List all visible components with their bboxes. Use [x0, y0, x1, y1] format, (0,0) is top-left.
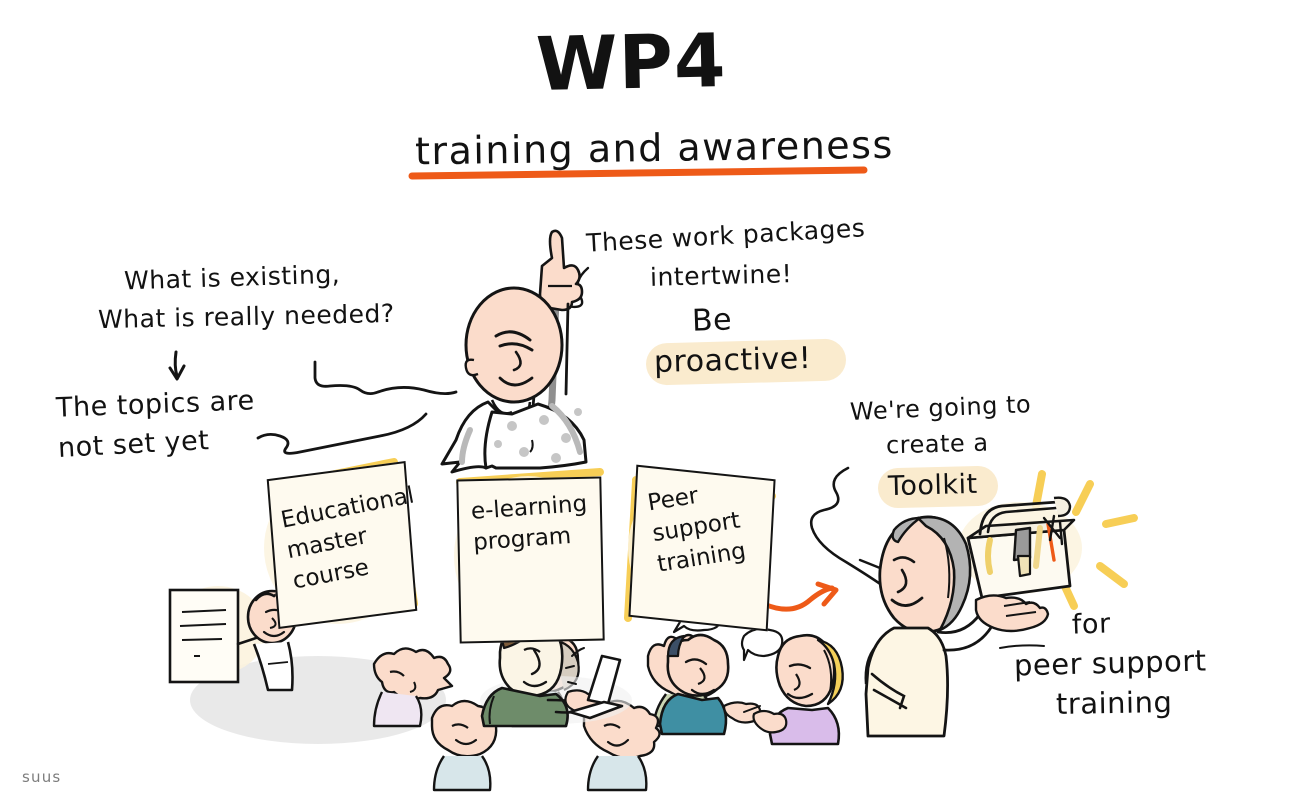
speech-line-2: intertwine!: [650, 260, 793, 291]
toolkit-caption-line-2: peer support: [1014, 645, 1207, 681]
toolkit-caption-line-1: for: [1072, 609, 1112, 639]
squiggle-connector-lower: [258, 414, 426, 453]
card-e-learning-program-label: e-learning program: [470, 487, 614, 559]
proactive-label: proactive!: [654, 343, 812, 379]
question-line-2: What is really needed?: [98, 300, 395, 333]
page-subtitle: training and awareness: [415, 125, 894, 173]
artist-signature: suus: [22, 769, 61, 785]
sketchnote-canvas: Educational master course e-learning pro…: [0, 0, 1314, 800]
toolkit-label: Toolkit: [888, 470, 978, 501]
toolkit-note-line-2: create a: [886, 431, 989, 460]
be-label: Be: [691, 304, 732, 338]
page-title: WP4: [535, 22, 727, 106]
orange-arrow-icon: [764, 584, 836, 609]
down-arrow-icon: [170, 352, 184, 379]
squiggle-connector-upper: [315, 362, 456, 394]
question-line-1: What is existing,: [124, 261, 341, 295]
toolkit-caption-line-3: training: [1056, 687, 1173, 720]
toolkit-squiggle-connector: [811, 468, 886, 588]
pointing-presenter-illustration: [442, 231, 586, 472]
